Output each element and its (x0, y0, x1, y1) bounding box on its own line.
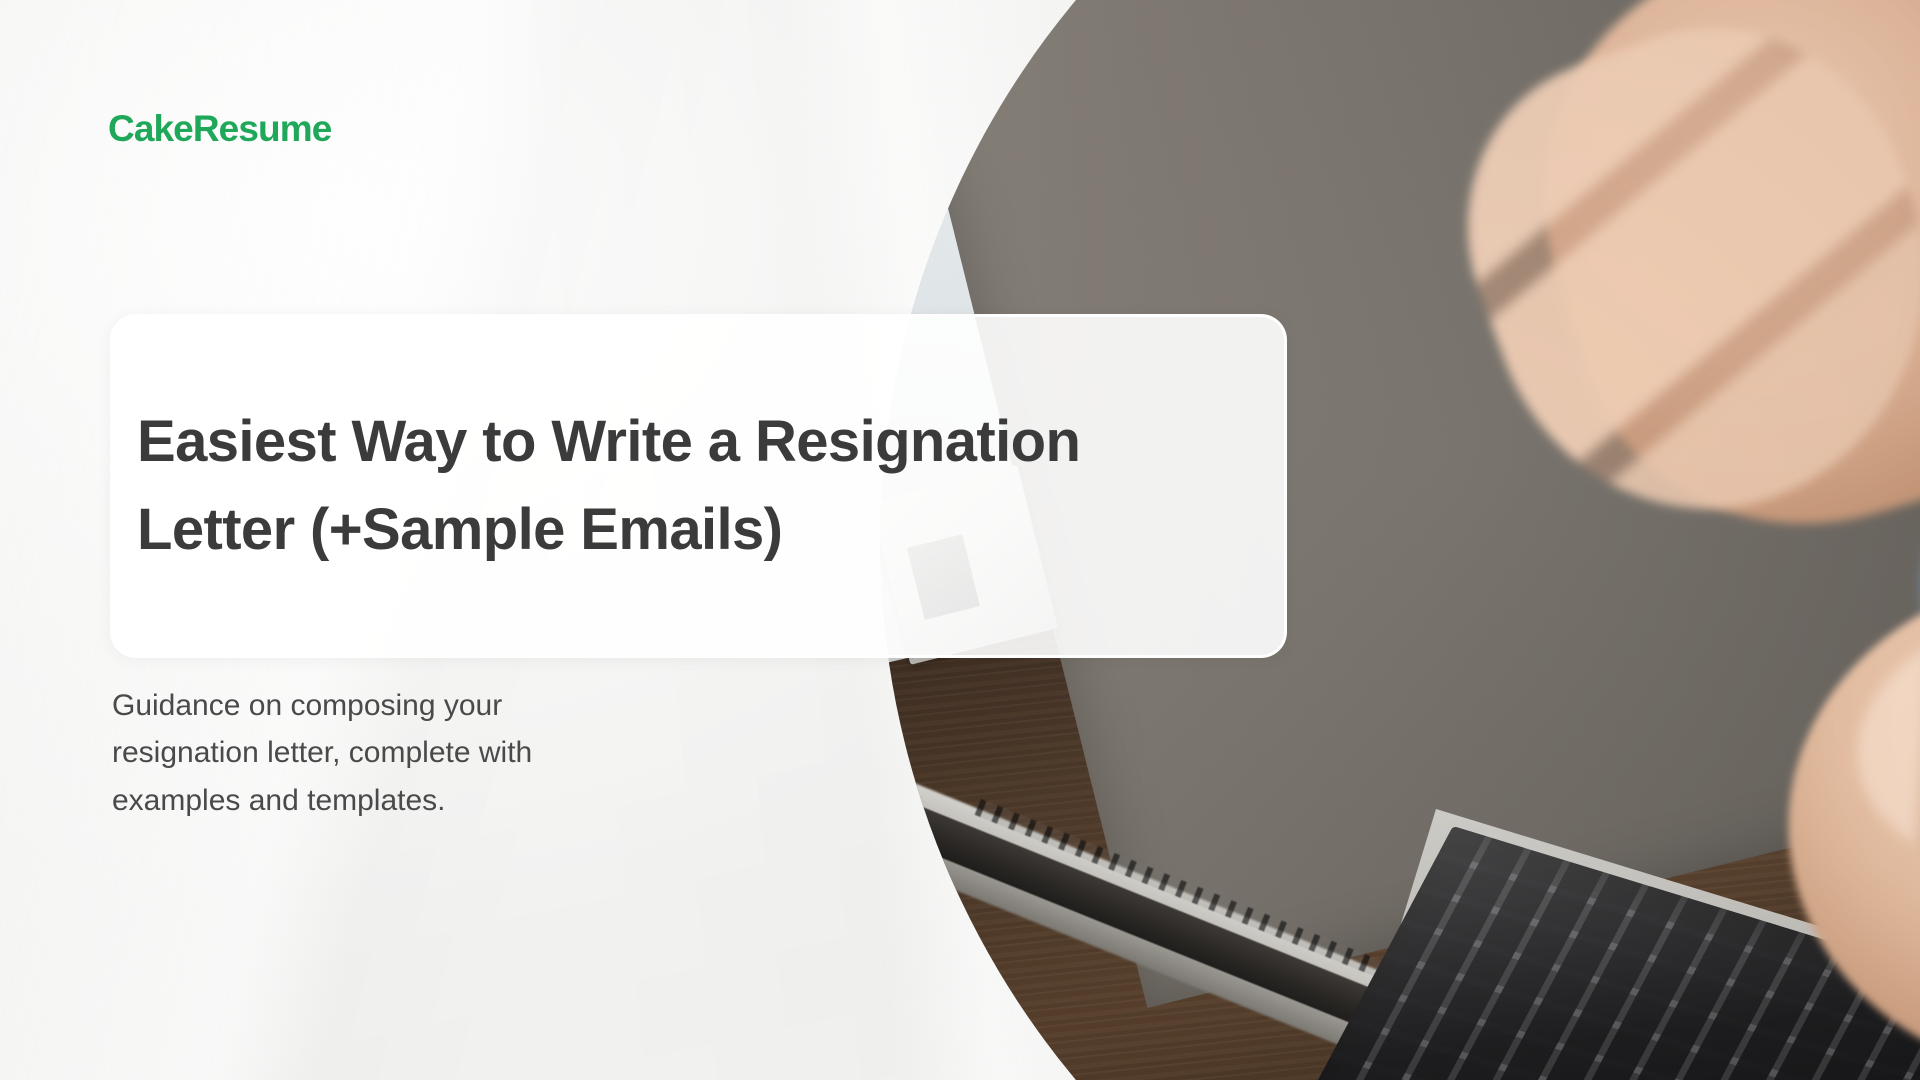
page-subtitle: Guidance on composing your resignation l… (112, 682, 752, 824)
page-subtitle-line-2: resignation letter, complete with (112, 729, 752, 776)
page-title: Easiest Way to Write a Resignation Lette… (137, 398, 1238, 574)
headline-card-content: Easiest Way to Write a Resignation Lette… (113, 398, 1284, 574)
page-title-line-1: Easiest Way to Write a Resignation (137, 398, 1238, 486)
page-subtitle-line-3: examples and templates. (112, 777, 752, 824)
cakeresume-logo[interactable]: CakeResume (108, 108, 331, 150)
page-title-line-2: Letter (+Sample Emails) (137, 486, 1238, 574)
banner-canvas: CakeResume Easiest Way to Write a Resign… (0, 0, 1920, 1080)
headline-card: Easiest Way to Write a Resignation Lette… (110, 314, 1287, 658)
page-subtitle-line-1: Guidance on composing your (112, 682, 752, 729)
